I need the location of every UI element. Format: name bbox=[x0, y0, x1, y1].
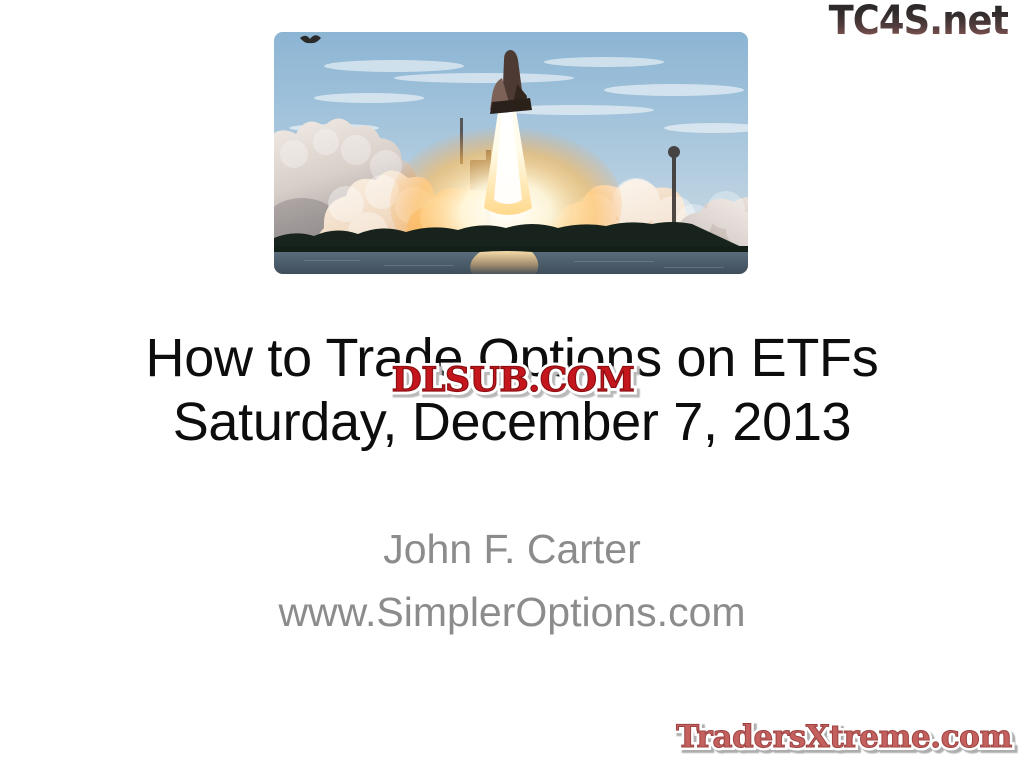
watermark-tradersxtreme: TradersXtreme.com TradersXtreme.com Trad… bbox=[674, 714, 1014, 760]
presenter-name: John F. Carter bbox=[0, 518, 1024, 581]
rocket-launch-illustration bbox=[274, 32, 748, 274]
presenter-website: www.SimplerOptions.com bbox=[0, 581, 1024, 644]
watermark-tc4s: TC4S.net bbox=[828, 0, 1008, 44]
presentation-slide: How to Trade Options on ETFs Saturday, D… bbox=[0, 0, 1024, 768]
watermark-dlsub: DLSUB.COM DLSUB.COM DLSUB.COM bbox=[369, 358, 657, 402]
slide-subtitle: John F. Carter www.SimplerOptions.com bbox=[0, 518, 1024, 644]
watermark-dlsub-fill: DLSUB.COM bbox=[366, 358, 660, 402]
watermark-tradersxtreme-fill: TradersXtreme.com bbox=[674, 714, 1014, 760]
rocket-launch-image bbox=[274, 32, 748, 274]
water-reflection bbox=[470, 251, 538, 274]
